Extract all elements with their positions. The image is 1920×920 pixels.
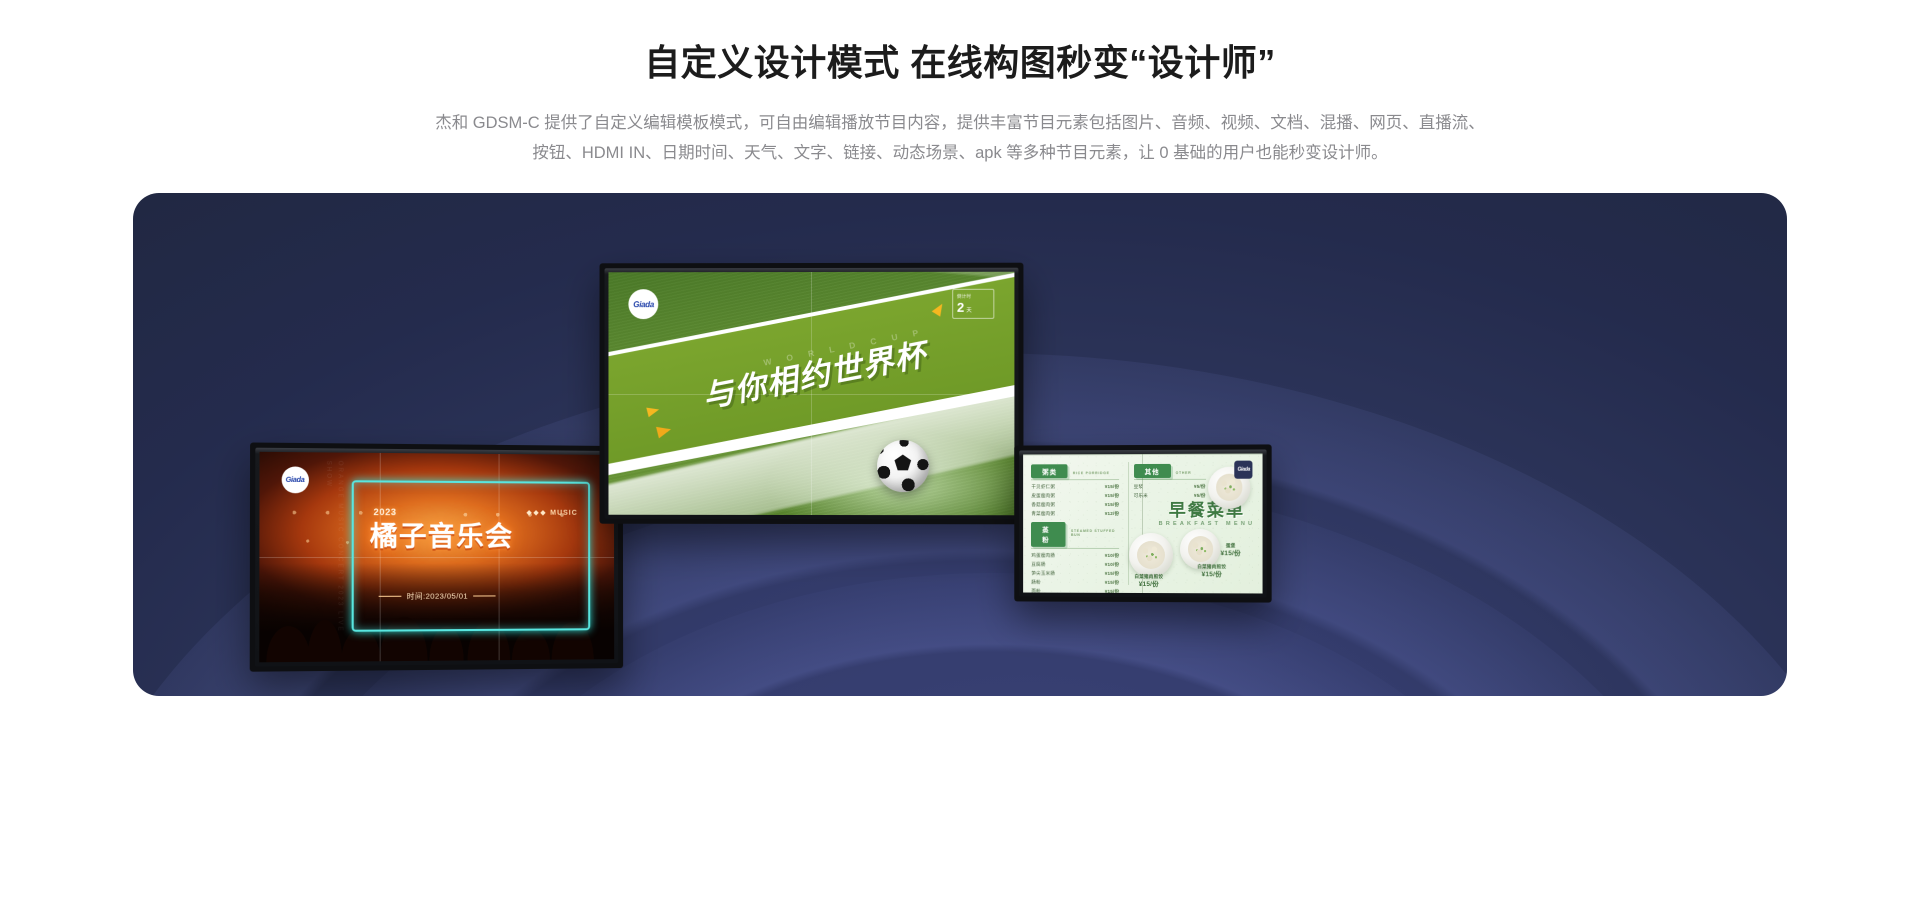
menu-category-steamed: 蒸粉 STEAMED STUFFED BUN 鸡蛋瘦肉肠 ¥10/份 豆腐肠 ¥… [1031,522,1119,593]
countdown-widget[interactable]: 倒计时 2天 [952,289,994,319]
item-name: 皮蛋瘦肉粥 [1031,491,1055,500]
concert-year: 2023 [373,507,396,517]
menu-item: 干贝虾仁粥 ¥15/份 [1031,482,1119,491]
menu-bezel: 粥类 RICE PORRIDGE 干贝虾仁粥 ¥15/份 皮蛋瘦肉粥 ¥15/份 [1019,449,1266,597]
menu-item: 面粉 ¥15/份 [1031,586,1119,593]
worldcup-bezel: W O R L D C U P 与你相约世界杯 倒计时 2天 Giada [604,268,1018,520]
concert-text-group: 2023 ◆◆◆MUSIC 橘子音乐会 时间:2023/05/01 [259,452,614,662]
dish-price: ¥15/份 [1123,580,1175,589]
menu-item: 皮蛋瘦肉粥 ¥15/份 [1031,491,1119,500]
dish-price: ¥15/份 [1188,570,1236,579]
page-root: 自定义设计模式 在线构图秒变“设计师” 杰和 GDSM-C 提供了自定义编辑模板… [0,0,1920,920]
category-header: 其他 OTHER [1134,463,1206,478]
countdown-unit: 天 [966,308,972,314]
dish-label-3: 白菜猪肉煎饺 ¥15/份 [1188,563,1236,579]
description-line-2: IN、日期时间、天气、文字、链接、动态场景、apk 等多种节目元素，让 0 基础… [629,144,1388,162]
concert-date-row: 时间:2023/05/01 [379,590,496,602]
item-name: 豆腐肠 [1031,559,1045,568]
category-header: 蒸粉 STEAMED STUFFED BUN [1031,522,1119,546]
item-price: ¥15/份 [1105,500,1119,509]
menu-item: 笋尖玉米肠 ¥15/份 [1031,568,1119,577]
category-name: 蒸粉 [1031,522,1066,546]
item-name: 面粉 [1031,586,1040,593]
menu-title-en: BREAKFAST MENU [1159,521,1256,527]
item-name: 笋尖玉米肠 [1031,568,1055,577]
menu-panel: 粥类 RICE PORRIDGE 干贝虾仁粥 ¥15/份 皮蛋瘦肉粥 ¥15/份 [1023,454,1262,594]
item-price: ¥10/份 [1105,551,1119,560]
menu-item: 香菇瘦肉粥 ¥15/份 [1031,500,1119,509]
dish-name: 蛋堡 [1209,542,1253,549]
countdown-label: 倒计时 [957,293,989,300]
menu-item: 可乐米 ¥5/份 [1134,491,1206,500]
item-price: ¥15/份 [1105,482,1119,491]
dish-photo-2 [1129,533,1173,577]
dish-label-1: 蛋堡 ¥15/份 [1209,542,1253,558]
item-price: ¥15/份 [1105,491,1119,500]
countdown-value-row: 2天 [957,300,989,319]
menu-item: 肠粉 ¥15/份 [1031,577,1119,586]
menu-item: 鸡蛋瘦肉肠 ¥10/份 [1031,550,1119,559]
menu-item: 豆浆 ¥5/份 [1134,482,1206,491]
menu-category-porridge: 粥类 RICE PORRIDGE 干贝虾仁粥 ¥15/份 皮蛋瘦肉粥 ¥15/份 [1031,464,1119,518]
soccer-ball-icon [877,440,929,492]
page-title: 自定义设计模式 在线构图秒变“设计师” [0,0,1920,86]
category-name-en: OTHER [1176,471,1192,475]
item-name: 可乐米 [1134,491,1148,500]
dish-label-2: 白菜猪肉煎饺 ¥15/份 [1123,573,1175,589]
display-worldcup[interactable]: W O R L D C U P 与你相约世界杯 倒计时 2天 Giada [600,263,1024,525]
dish-price: ¥15/份 [1209,549,1253,558]
item-name: 干贝虾仁粥 [1031,482,1055,491]
display-concert[interactable]: ORANGE MUSIC CONCERT 2023 LIVE SHOW 2023… [250,442,623,671]
rule-left-decor [379,595,402,596]
page-description: 杰和 GDSM-C 提供了自定义编辑模板模式，可自由编辑播放节目内容，提供丰富节… [430,108,1490,168]
item-price: ¥12/份 [1105,509,1119,518]
item-price: ¥15/份 [1105,577,1119,586]
item-name: 豆浆 [1134,482,1144,491]
concert-title: 橘子音乐会 [370,522,513,553]
rule-right-decor [473,595,495,596]
menu-item: 青菜瘦肉粥 ¥12/份 [1031,509,1119,518]
worldcup-panel: W O R L D C U P 与你相约世界杯 倒计时 2天 Giada [608,272,1014,516]
item-price: ¥15/份 [1105,586,1119,593]
category-header: 粥类 RICE PORRIDGE [1031,464,1119,479]
display-breakfast-menu[interactable]: 粥类 RICE PORRIDGE 干贝虾仁粥 ¥15/份 皮蛋瘦肉粥 ¥15/份 [1014,444,1271,602]
item-price: ¥15/份 [1105,569,1119,578]
category-name: 粥类 [1031,464,1068,479]
item-name: 青菜瘦肉粥 [1031,509,1055,518]
concert-bezel: ORANGE MUSIC CONCERT 2023 LIVE SHOW 2023… [255,448,618,667]
item-name: 香菇瘦肉粥 [1031,500,1055,509]
item-name: 肠粉 [1031,577,1040,586]
countdown-value: 2 [957,300,964,315]
category-name-en: RICE PORRIDGE [1073,471,1110,475]
menu-divider [1128,462,1129,584]
diamond-icon: ◆◆◆ [526,510,547,517]
showcase-panel: ORANGE MUSIC CONCERT 2023 LIVE SHOW 2023… [133,193,1787,696]
item-price: ¥5/份 [1194,491,1206,500]
item-name: 鸡蛋瘦肉肠 [1031,550,1055,559]
concert-date: 时间:2023/05/01 [407,590,468,601]
arrow-icon-1 [646,404,660,417]
menu-item: 豆腐肠 ¥10/份 [1031,559,1119,568]
concert-music-tag: ◆◆◆MUSIC [526,509,577,517]
item-price: ¥5/份 [1194,482,1206,491]
menu-category-other: 其他 OTHER 豆浆 ¥5/份 可乐米 ¥5/份 [1134,463,1206,500]
brand-logo-badge: Giada [1235,461,1253,479]
item-price: ¥10/份 [1105,560,1119,569]
brand-logo-badge: Giada [281,467,308,494]
category-name-en: STEAMED STUFFED BUN [1071,529,1119,537]
concert-panel: ORANGE MUSIC CONCERT 2023 LIVE SHOW 2023… [259,452,614,662]
category-name: 其他 [1134,464,1171,479]
concert-music-label: MUSIC [550,510,578,517]
